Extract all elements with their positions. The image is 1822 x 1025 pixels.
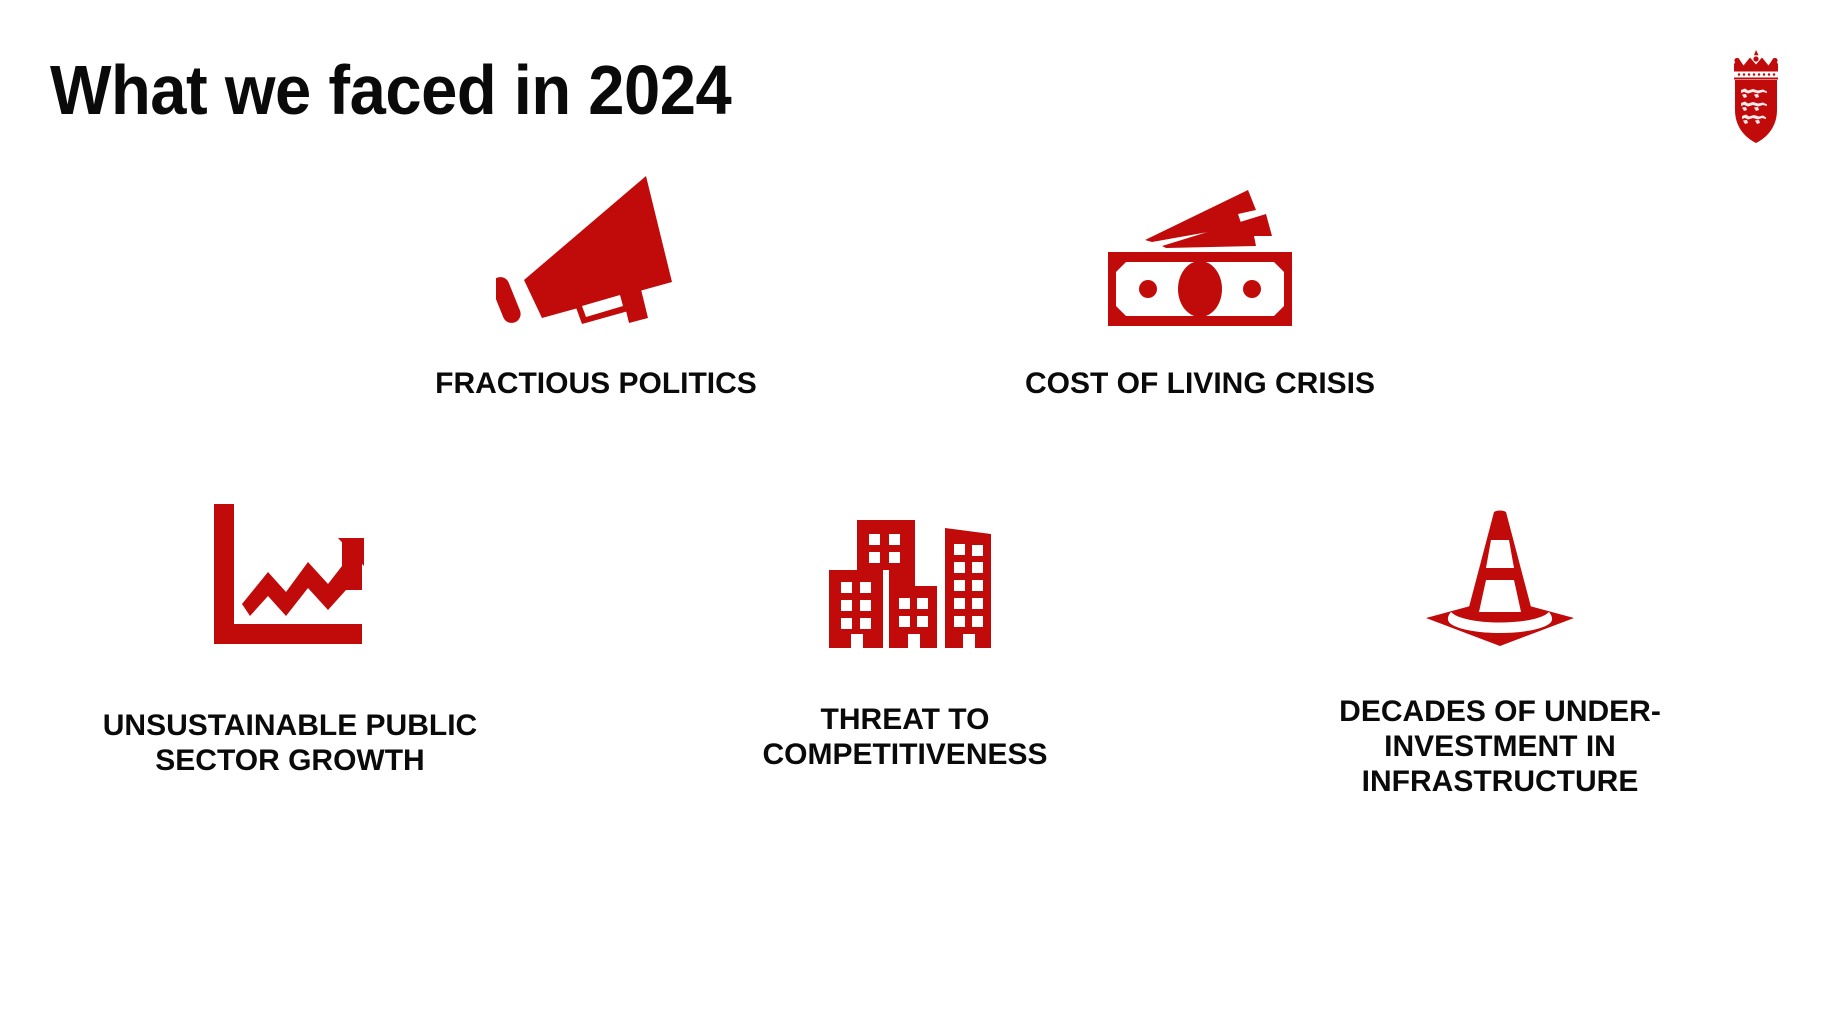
buildings-icon	[815, 504, 995, 654]
traffic-cone-icon	[1420, 500, 1580, 650]
item-label: COST OF LIVING CRISIS	[1025, 366, 1375, 401]
item-label: DECADES OF UNDER-INVESTMENT IN INFRASTRU…	[1310, 694, 1690, 799]
item-decades-of-under-investment-in-infrastructure: DECADES OF UNDER-INVESTMENT IN INFRASTRU…	[1310, 500, 1690, 799]
item-unsustainable-public-sector-growth: UNSUSTAINABLE PUBLIC SECTOR GROWTH	[95, 500, 485, 778]
page-title: What we faced in 2024	[50, 55, 731, 125]
megaphone-icon	[496, 170, 696, 330]
rising-chart-icon	[210, 500, 370, 660]
banknotes-icon	[1100, 174, 1300, 334]
item-cost-of-living-crisis: COST OF LIVING CRISIS	[1010, 174, 1390, 401]
item-label: UNSUSTAINABLE PUBLIC SECTOR GROWTH	[95, 708, 485, 778]
slide-canvas: What we faced in 2024	[0, 0, 1822, 1025]
item-fractious-politics: FRACTIOUS POLITICS	[406, 170, 786, 401]
item-label: FRACTIOUS POLITICS	[435, 366, 757, 401]
jersey-coat-of-arms-crest	[1730, 48, 1782, 144]
item-label: THREAT TO COMPETITIVENESS	[715, 702, 1095, 772]
item-threat-to-competitiveness: THREAT TO COMPETITIVENESS	[715, 504, 1095, 772]
